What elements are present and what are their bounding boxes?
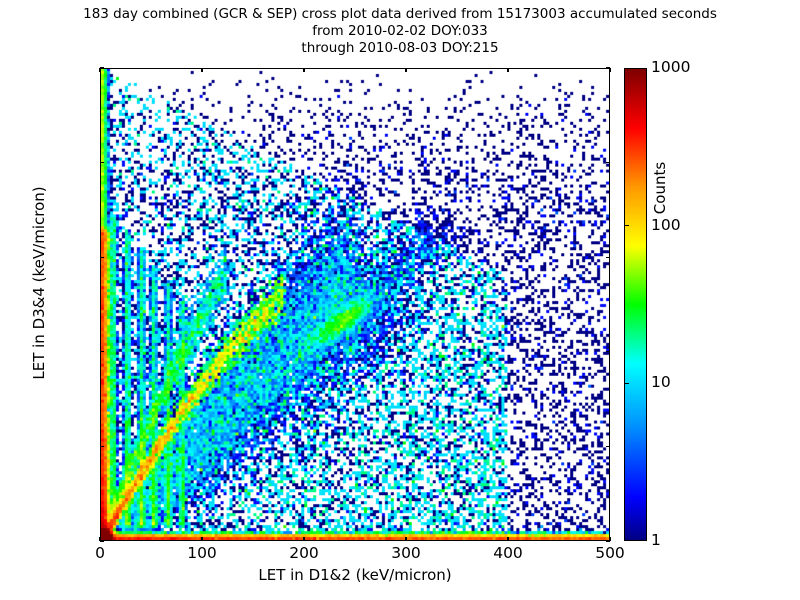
chart-page: 183 day combined (GCR & SEP) cross plot … (0, 0, 800, 600)
y-tick-mark-right (606, 257, 610, 258)
x-tick-label: 0 (95, 546, 105, 562)
colorbar (624, 68, 647, 541)
y-tick-mark-right (606, 351, 610, 352)
colorbar-tick-label: 1 (651, 533, 661, 549)
y-tick-mark (100, 257, 104, 258)
title-line-1: 183 day combined (GCR & SEP) cross plot … (0, 6, 800, 23)
x-tick-mark-top (405, 68, 406, 72)
plot-area (100, 68, 610, 541)
y-tick-mark-right (606, 162, 610, 163)
x-tick-mark (201, 537, 202, 541)
x-tick-label: 100 (187, 546, 217, 562)
colorbar-gradient (625, 69, 646, 540)
y-tick-mark (100, 446, 104, 447)
colorbar-tick-label: 10 (651, 375, 671, 391)
x-tick-mark (99, 537, 100, 541)
y-axis-title: LET in D3&4 (keV/micron) (30, 123, 48, 443)
colorbar-tick-mark (624, 225, 629, 226)
title-line-2: from 2010-02-02 DOY:033 (0, 23, 800, 40)
x-tick-mark (405, 537, 406, 541)
chart-title: 183 day combined (GCR & SEP) cross plot … (0, 6, 800, 57)
x-tick-mark (507, 537, 508, 541)
colorbar-title: Counts (651, 108, 669, 268)
title-line-3: through 2010-08-03 DOY:215 (0, 40, 800, 57)
x-tick-mark-top (507, 68, 508, 72)
x-tick-mark-top (303, 68, 304, 72)
y-tick-mark (100, 162, 104, 163)
x-tick-mark-top (201, 68, 202, 72)
x-tick-mark (303, 537, 304, 541)
x-tick-label: 400 (493, 546, 523, 562)
y-tick-mark-right (606, 446, 610, 447)
x-tick-mark-top (609, 68, 610, 72)
x-tick-mark-top (99, 68, 100, 72)
x-tick-mark (609, 537, 610, 541)
colorbar-tick-label: 1000 (651, 60, 690, 76)
x-tick-label: 500 (595, 546, 625, 562)
x-tick-label: 300 (391, 546, 421, 562)
y-tick-mark (100, 351, 104, 352)
colorbar-tick-mark (624, 383, 629, 384)
x-tick-label: 200 (289, 546, 319, 562)
heatmap-canvas (101, 69, 609, 540)
x-axis-title: LET in D1&2 (keV/micron) (100, 566, 610, 584)
